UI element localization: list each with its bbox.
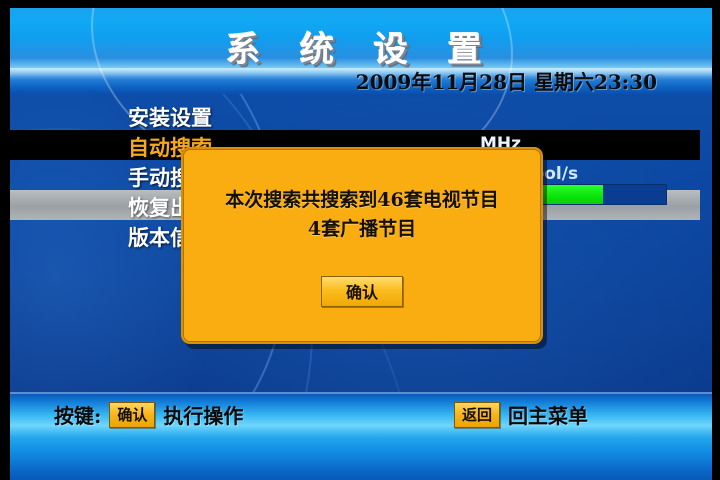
- dialog-message-line-1: 本次搜索共搜索到46套电视节目: [183, 185, 541, 212]
- tv-screen: 系 统 设 置 2009年11月28日 星期六23:30 安装设置 自动搜索 M…: [0, 0, 720, 480]
- header-bar: 系 统 设 置 2009年11月28日 星期六23:30: [10, 8, 712, 94]
- scan-result-dialog: 本次搜索共搜索到46套电视节目 4套广播节目 确认: [181, 147, 543, 344]
- dialog-confirm-button[interactable]: 确认: [321, 276, 403, 307]
- footer-bar: 按键:确认执行操作 返回回主菜单: [10, 392, 712, 480]
- page-title: 系 统 设 置: [10, 22, 712, 71]
- footer-hints: 按键:确认执行操作 返回回主菜单: [54, 400, 692, 430]
- footer-action-back-label: 回主菜单: [508, 400, 588, 429]
- dialog-message-line-2: 4套广播节目: [183, 214, 541, 241]
- footer-action-ok-label: 执行操作: [163, 400, 243, 429]
- footer-hint-back: 返回回主菜单: [446, 400, 588, 429]
- footer-key-ok[interactable]: 确认: [109, 402, 155, 428]
- picture-area: 系 统 设 置 2009年11月28日 星期六23:30 安装设置 自动搜索 M…: [10, 8, 712, 480]
- menu-item-install[interactable]: 安装设置: [10, 100, 712, 130]
- footer-prefix-label: 按键:: [54, 400, 101, 429]
- menu-item-label: 安装设置: [128, 102, 212, 132]
- row-band: [10, 100, 700, 130]
- footer-key-back[interactable]: 返回: [454, 402, 500, 428]
- footer-top-edge: [10, 392, 712, 394]
- datetime-display: 2009年11月28日 星期六23:30: [356, 66, 657, 95]
